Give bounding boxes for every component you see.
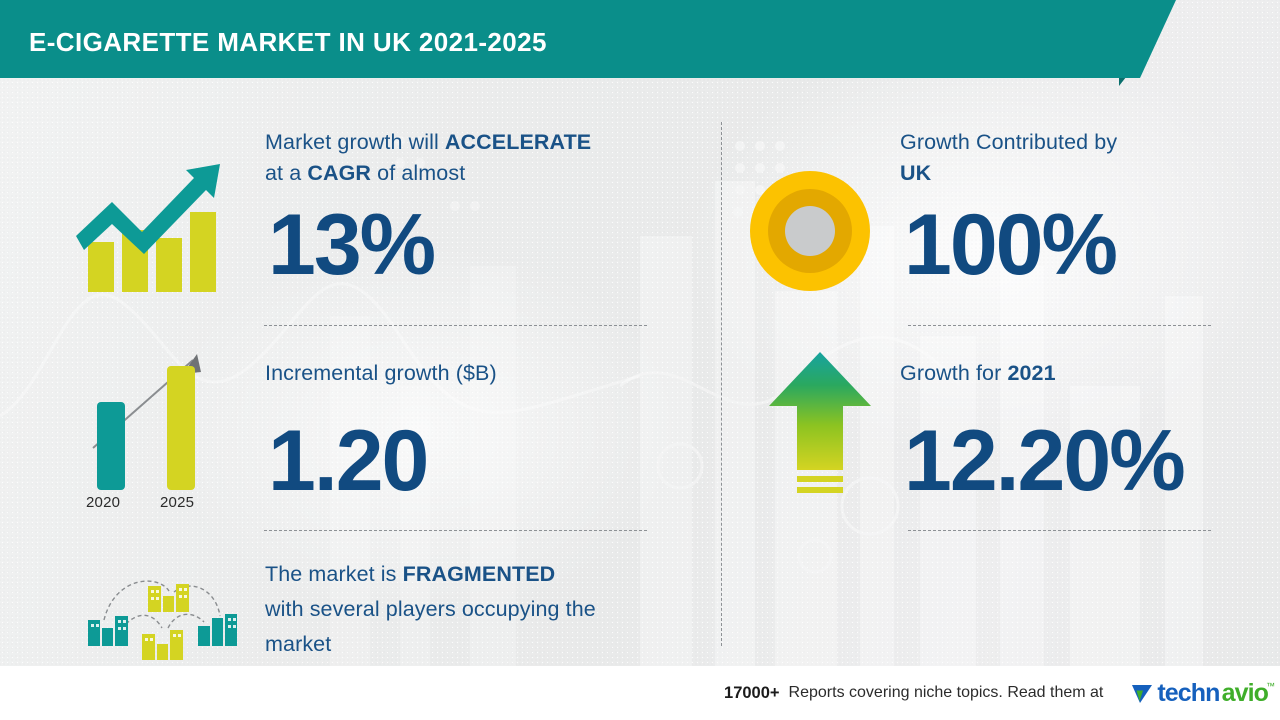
technavio-logo-part1: techn <box>1157 679 1219 708</box>
footer-report-count: 17000+ <box>724 684 780 703</box>
cagr-value: 13% <box>268 202 434 288</box>
fragmented-buildings-network-icon <box>70 558 245 663</box>
cagr-label-line2: at a CAGR of almost <box>265 161 465 185</box>
left-divider-1 <box>264 325 647 326</box>
growth-contributed-label: Growth Contributed by UK <box>900 127 1230 189</box>
technavio-logo[interactable]: technavio ™ <box>1130 679 1268 708</box>
donut-circle-icon <box>749 170 871 292</box>
fragmented-label-line2: with several players occupying the <box>265 597 596 621</box>
two-bar-growth-icon <box>75 340 225 490</box>
infographic-poster: E-CIGARETTE MARKET IN UK 2021-2025 Marke… <box>0 0 1280 720</box>
page-title: E-CIGARETTE MARKET IN UK 2021-2025 <box>29 27 547 58</box>
growth-2021-value: 12.20% <box>904 418 1184 504</box>
header-fold-corner <box>1140 0 1176 78</box>
trademark-symbol: ™ <box>1266 681 1275 691</box>
growth-2021-label: Growth for 2021 <box>900 358 1230 389</box>
cagr-label-line1: Market growth will ACCELERATE <box>265 130 591 154</box>
gradient-up-arrow-icon <box>765 348 875 503</box>
fragmented-market-label: The market is FRAGMENTED with several pl… <box>265 557 690 662</box>
growth-contributed-line1: Growth Contributed by <box>900 130 1117 154</box>
footer-content: 17000+ Reports covering niche topics. Re… <box>724 666 1268 720</box>
footer-tagline: Reports covering niche topics. Read them… <box>789 684 1104 702</box>
rising-bar-chart-arrow-icon <box>68 160 230 292</box>
fragmented-label-line3: market <box>265 632 331 656</box>
incremental-growth-label: Incremental growth ($B) <box>265 358 685 389</box>
cagr-label: Market growth will ACCELERATE at a CAGR … <box>265 127 685 189</box>
technavio-logo-part2: avio <box>1222 679 1268 708</box>
growth-2021-year: 2021 <box>1007 361 1055 385</box>
column-divider <box>721 122 722 646</box>
bar-label-2025: 2025 <box>160 494 194 511</box>
right-divider-2 <box>908 530 1211 531</box>
footer-bar: 17000+ Reports covering niche topics. Re… <box>0 666 1280 720</box>
technavio-mark-icon <box>1130 681 1154 705</box>
growth-contributed-value: 100% <box>904 202 1116 288</box>
growth-contributed-country: UK <box>900 161 931 185</box>
incremental-growth-value: 1.20 <box>268 418 427 504</box>
right-divider-1 <box>908 325 1211 326</box>
left-divider-2 <box>264 530 647 531</box>
fragmented-label-line1: The market is FRAGMENTED <box>265 562 555 586</box>
bar-label-2020: 2020 <box>86 494 120 511</box>
